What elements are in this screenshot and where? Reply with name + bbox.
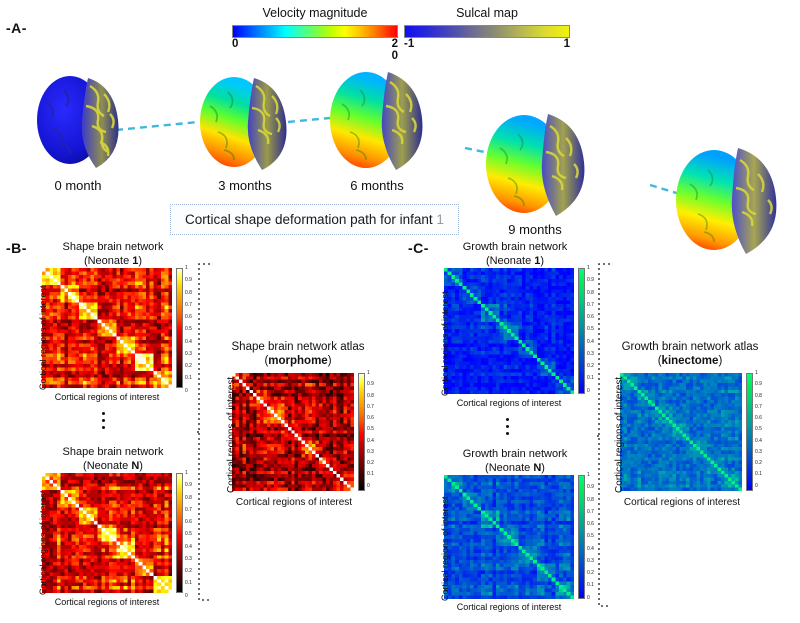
morphome-atlas-colorbar-ticks: 10.90.8 0.70.6 0.50.4 0.30.2 0.10 xyxy=(367,371,374,489)
kinectome-title-line2: (kinectome) xyxy=(658,355,723,367)
growth-net-1-xlabel: Cortical regions of interest xyxy=(434,398,584,408)
morphome-title-line1: Shape brain network atlas xyxy=(232,341,365,353)
shape-net-n-title-line1: Shape brain network xyxy=(63,446,164,458)
sulcal-colorbar-min-tick: -1 xyxy=(404,39,414,51)
growth-net-1-colorbar-ticks: 10.90.8 0.70.6 0.50.4 0.30.2 0.10 xyxy=(587,266,594,394)
shape-net-n-colorbar-ticks: 10.90.8 0.70.6 0.50.4 0.30.2 0.10 xyxy=(185,471,192,599)
caption-subject-id: 1 xyxy=(436,212,444,227)
morphome-atlas-matrix xyxy=(232,373,354,491)
t9: (Neonate xyxy=(485,462,533,474)
shape-net-1-colorbar xyxy=(176,268,183,388)
growth-net-n-matrix xyxy=(444,475,574,599)
growth-net-1-title-line1: Growth brain network xyxy=(463,241,568,253)
shape-net-n-ylabel: Cortical regions of interest xyxy=(38,490,48,595)
kinectome-atlas-ylabel: Cortical regions of interest xyxy=(614,377,625,493)
shape-net-1-title-line1: Shape brain network xyxy=(63,241,164,253)
kinectome-atlas-matrix xyxy=(620,373,742,491)
velocity-colorbar-gradient xyxy=(232,25,398,38)
brain-3-months xyxy=(192,68,298,172)
sulcal-colorbar-title: Sulcal map xyxy=(404,6,570,20)
sulcal-colorbar: Sulcal map -1 1 xyxy=(404,6,570,51)
morphome-atlas-colorbar xyxy=(358,373,365,491)
velocity-max-digit-2: 0 xyxy=(392,51,398,63)
shape-net-1-ylabel: Cortical regions of interest xyxy=(38,285,48,390)
t12: ) xyxy=(718,355,722,367)
brain-final xyxy=(668,142,790,254)
growth-net-n-colorbar-ticks: 10.90.8 0.70.6 0.50.4 0.30.2 0.10 xyxy=(587,473,594,601)
kinectome-atlas-title: Growth brain network atlas (kinectome) xyxy=(600,340,780,369)
brain-label-9-months: 9 months xyxy=(474,222,596,237)
t4: ) xyxy=(139,460,143,472)
velocity-colorbar-max-tick: 2 0 xyxy=(392,39,398,62)
panel-a-letter: -A- xyxy=(6,20,27,36)
t: (Neonate xyxy=(84,255,132,267)
brain-label-6-months: 6 months xyxy=(318,178,436,193)
velocity-colorbar-title: Velocity magnitude xyxy=(232,6,398,20)
growth-net-n-title: Growth brain network (Neonate N) xyxy=(440,448,590,476)
morphome-atlas-ylabel: Cortical regions of interest xyxy=(226,377,237,493)
growth-net-n-ylabel: Cortical regions of interest xyxy=(440,496,450,601)
growth-net-n-title-line1: Growth brain network xyxy=(463,448,568,460)
kinectome-name: kinectome xyxy=(662,355,719,367)
brain-6-months xyxy=(322,64,434,174)
kinectome-title-line1: Growth brain network atlas xyxy=(622,341,759,353)
panel-c-brace xyxy=(594,262,616,608)
shape-net-n-matrix xyxy=(42,473,172,593)
growth-net-n-xlabel: Cortical regions of interest xyxy=(434,602,584,612)
morphome-atlas-title: Shape brain network atlas (morphome) xyxy=(212,340,384,369)
brain-9-months xyxy=(478,108,596,218)
shape-net-n-colorbar xyxy=(176,473,183,593)
shape-net-1-matrix xyxy=(42,268,172,388)
velocity-colorbar: Velocity magnitude 0 2 0 xyxy=(232,6,398,62)
brain-label-3-months: 3 months xyxy=(190,178,300,193)
velocity-max-digit-1: 2 xyxy=(392,39,398,51)
panel-b-brace xyxy=(194,262,216,602)
growth-net-1-title-line2: (Neonate 1) xyxy=(486,255,544,267)
shape-net-1-title-line2: (Neonate 1) xyxy=(84,255,142,267)
shape-net-1-colorbar-ticks: 10.90.8 0.70.6 0.50.4 0.30.2 0.10 xyxy=(185,266,192,394)
t2: ) xyxy=(138,255,142,267)
morphome-atlas-xlabel: Cortical regions of interest xyxy=(214,497,374,508)
panel-a-caption: Cortical shape deformation path for infa… xyxy=(170,204,459,235)
shape-net-1-xlabel: Cortical regions of interest xyxy=(32,392,182,402)
t7: (Neonate xyxy=(486,255,534,267)
velocity-colorbar-min-tick: 0 xyxy=(232,39,238,62)
t10: ) xyxy=(541,462,545,474)
sulcal-colorbar-gradient xyxy=(404,25,570,38)
panel-b-ellipsis xyxy=(96,408,110,433)
t8: ) xyxy=(540,255,544,267)
kinectome-atlas-colorbar-ticks: 10.90.8 0.70.6 0.50.4 0.30.2 0.10 xyxy=(755,371,762,489)
sulcal-colorbar-max-tick: 1 xyxy=(564,39,570,51)
shape-net-n-title-line2: (Neonate N) xyxy=(83,460,143,472)
panel-b-letter: -B- xyxy=(6,240,27,256)
caption-text: Cortical shape deformation path for infa… xyxy=(185,212,436,227)
panel-c-ellipsis xyxy=(500,414,514,439)
kinectome-atlas-xlabel: Cortical regions of interest xyxy=(602,497,762,508)
morphome-title-line2: (morphome) xyxy=(264,355,331,367)
growth-net-1-ylabel: Cortical regions of interest xyxy=(440,291,450,396)
shape-net-1-title: Shape brain network (Neonate 1) xyxy=(38,241,188,269)
growth-net-1-colorbar xyxy=(578,268,585,394)
t3: (Neonate xyxy=(83,460,131,472)
morphome-name: morphome xyxy=(268,355,327,367)
growth-net-1-title: Growth brain network (Neonate 1) xyxy=(440,241,590,269)
t6: ) xyxy=(328,355,332,367)
growth-net-n-title-line2: (Neonate N) xyxy=(485,462,545,474)
shape-net-n-xlabel: Cortical regions of interest xyxy=(32,597,182,607)
growth-net-n-colorbar xyxy=(578,475,585,599)
brain-0-month xyxy=(30,68,126,170)
kinectome-atlas-colorbar xyxy=(746,373,753,491)
growth-net-1-matrix xyxy=(444,268,574,394)
shape-net-n-title: Shape brain network (Neonate N) xyxy=(38,446,188,474)
panel-c-letter: -C- xyxy=(408,240,429,256)
brain-label-0-month: 0 month xyxy=(30,178,126,193)
